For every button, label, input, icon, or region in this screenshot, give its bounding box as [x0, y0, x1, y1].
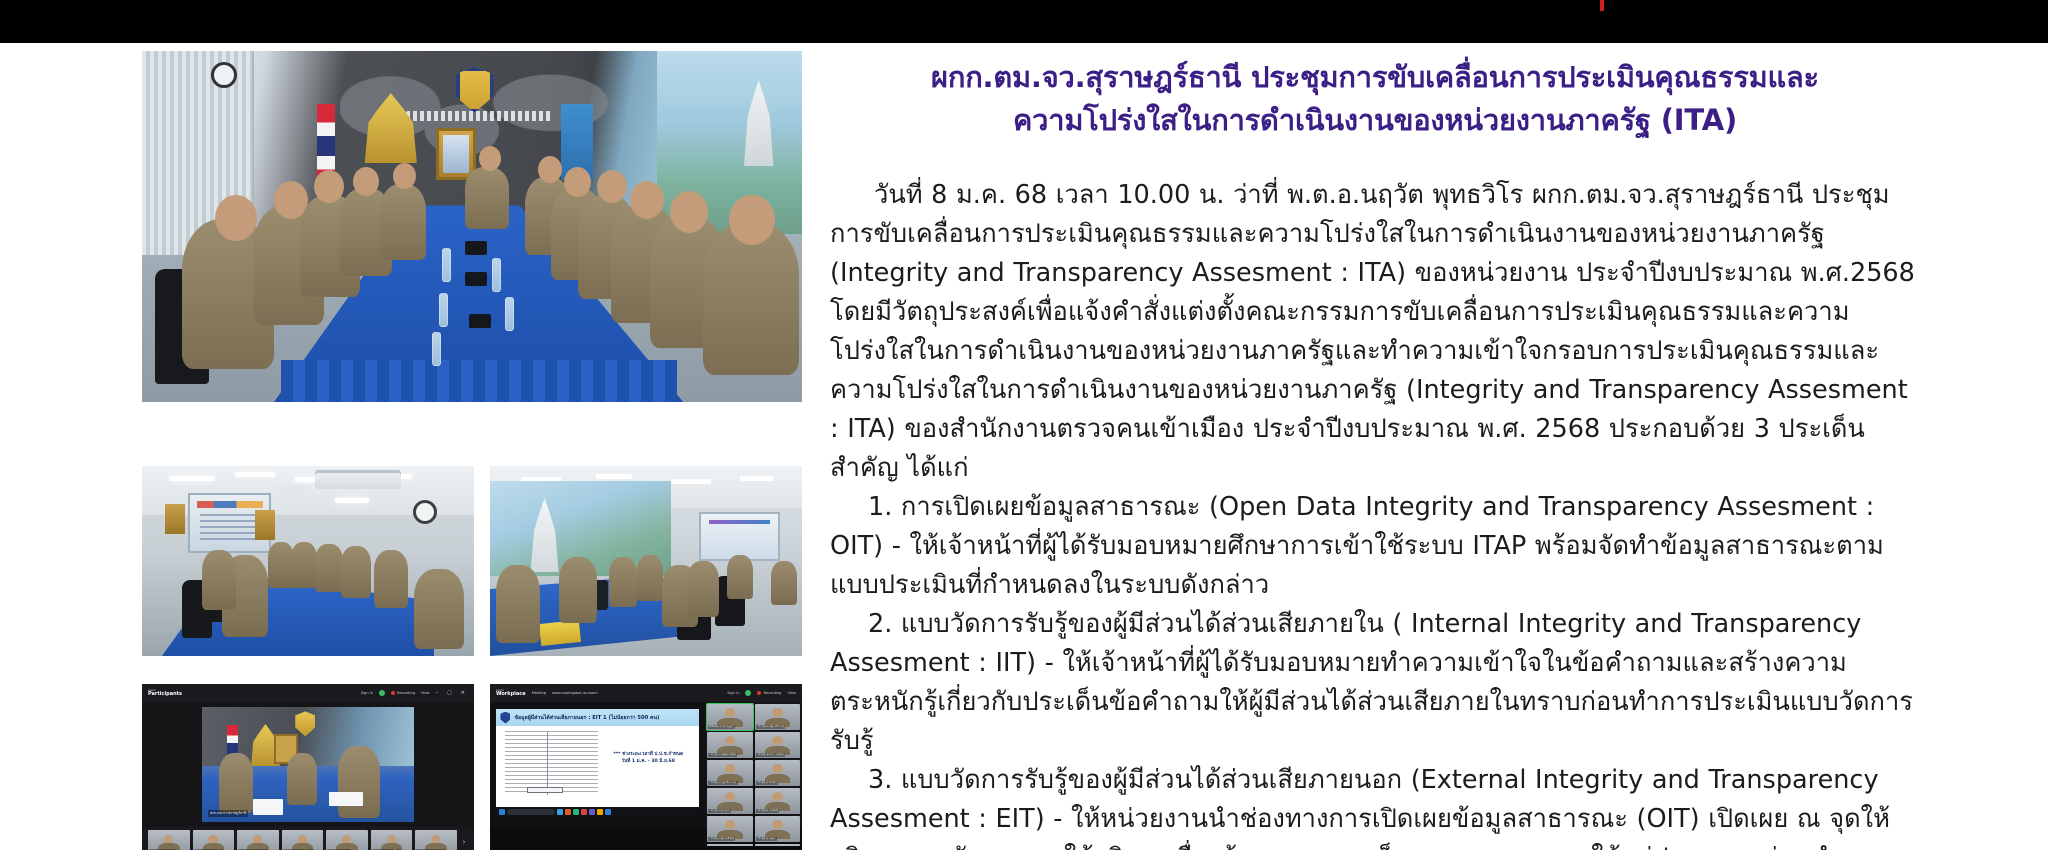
attendee-head	[353, 167, 379, 196]
yellow-folder	[539, 620, 581, 646]
mural-room-photo	[490, 466, 802, 656]
document-paper	[253, 799, 283, 815]
mic-off-icon: 🎤	[757, 837, 761, 841]
spotlight-name-label: ศปก.ตม.จว.สุราษฎร์ธานี	[208, 810, 248, 817]
article-title-line-1: ผกก.ตม.จว.สุราษฎร์ธานี ประชุมการขับเคลื่…	[931, 60, 1819, 94]
zoom-signin-link[interactable]: Sign in	[361, 691, 373, 695]
mic-off-icon: 🎤	[757, 809, 761, 813]
participant-head	[772, 708, 783, 717]
participant-label: 🎤 ด.ต.สมชาย วงศ์ทอง	[756, 753, 786, 757]
water-bottle	[492, 258, 501, 292]
windows-taskbar[interactable]	[496, 807, 698, 817]
roster-tile[interactable]: 🎤 ร.ต.ท.ณัฐพล ศรีสุข	[707, 732, 752, 758]
participant-head	[725, 736, 736, 745]
app-icon[interactable]	[573, 809, 579, 815]
roster-tile[interactable]: 🎤 พ.ต.ท.ชูชาติ ป.ป.ช.	[707, 760, 752, 786]
attendee-head	[314, 170, 344, 203]
article-paragraph: วันที่ 8 ม.ค. 68 เวลา 10.00 น. ว่าที่ พ.…	[830, 176, 1920, 488]
roster-tile[interactable]: ศปก.ตม.จว.สุราษฎร์ฯ	[707, 704, 752, 730]
projection-screen	[699, 512, 780, 561]
slide-text-lines	[200, 514, 260, 541]
roster-tile[interactable]: 🎤 ด.ต.หญิง มณีรัตน์	[707, 816, 752, 842]
wall-frame	[165, 504, 185, 534]
participant-head	[772, 736, 783, 745]
app-icon[interactable]	[597, 809, 603, 815]
wall-clock-icon	[211, 62, 237, 88]
red-marker-icon	[1600, 0, 1604, 11]
participant-head	[725, 764, 736, 773]
participant-label: 🎤 พ.ต.ท.ชูชาติ ป.ป.ช.	[708, 781, 738, 785]
meeting-tab[interactable]: Meeting	[532, 691, 547, 695]
roster-tile[interactable]: 🎤 ด.ต.สมชาย วงศ์ทอง	[755, 732, 800, 758]
app-icon[interactable]	[581, 809, 587, 815]
zoom-title-bar: zoom Participants Sign in Recording View…	[142, 684, 474, 702]
roster-tile[interactable]: 🎤 ร.ต.อ.สุวรรณ	[707, 788, 752, 814]
record-dot-icon	[757, 691, 761, 695]
slide-note-line-2: วันที่ 1 ม.ค. - 30 มิ.ย.68	[610, 759, 687, 766]
recording-indicator[interactable]: Recording	[391, 691, 415, 695]
participant-label: 🎤 ด.ต.หญิง มณีรัตน์	[708, 837, 735, 841]
projector-icon	[275, 485, 309, 498]
water-bottle	[439, 293, 448, 327]
attendee	[202, 550, 236, 610]
participant-label: 🎤 ร.ต.อ.หญิง ศรีวรรณ	[756, 725, 786, 729]
attendee	[687, 561, 719, 617]
participant-label: 🎤 ร.ต.ต.ประสิทธิ์	[756, 809, 780, 813]
zoom-spotlight-video[interactable]: ศปก.ตม.จว.สุราษฎร์ธานี	[202, 707, 414, 822]
zoom-window-name: Workplace	[496, 692, 526, 697]
view-button[interactable]: View	[421, 691, 430, 695]
participant-head	[725, 820, 736, 829]
air-conditioner	[315, 470, 401, 489]
zoom-meeting-screenshot: zoom Participants Sign in Recording View…	[142, 684, 474, 850]
participant-name: ส.ต.ท.อนุชา	[762, 837, 776, 841]
participant-tile[interactable]: 🎤 ร.ต.อ.หญิง ศร...	[148, 830, 190, 850]
attendee	[268, 542, 294, 588]
participant-label: 🎤 ส.ต.ท.อนุชา	[756, 837, 777, 841]
slide-note: *** ช่วงระยะเวลาที่ ป.ป.ช.กำหนด วันที่ 1…	[610, 752, 687, 766]
participant-roster[interactable]: ศปก.ตม.จว.สุราษฎร์ฯ 🎤 ร.ต.อ.หญิง ศรีวรรณ	[705, 702, 802, 827]
wall-sign-text	[406, 111, 551, 121]
water-bottle	[505, 297, 514, 331]
roster-tile[interactable]: 🎤 ร.ต.ต.ประสิทธิ์	[755, 788, 800, 814]
zoom-signin-link[interactable]: Sign in	[727, 691, 739, 695]
network-status-icon	[379, 690, 385, 696]
zoom-screenshare-screenshot: zoom Workplace Meeting www.zoomgobal.us.…	[490, 684, 802, 850]
zoom-participant-filmstrip[interactable]: 🎤 ร.ต.อ.หญิง ศร... 🎤 ด.ต.บรรพต ศิษย์...	[142, 827, 474, 850]
article-paragraph: 1. การเปิดเผยข้อมูลสาธารณะ (Open Data In…	[830, 488, 1920, 605]
slide-header: ข้อมูลผู้มีส่วนได้ส่วนเสียภายนอก : EIT 1…	[496, 709, 698, 726]
attendee-head	[393, 163, 416, 189]
participant-name: ด.ต.สมชาย วงศ์ทอง	[762, 753, 785, 757]
attendee-head	[729, 195, 775, 245]
zoom-app-identity: zoom Workplace	[496, 689, 526, 697]
mic-off-icon: 🎤	[709, 837, 713, 841]
mic-off-icon: 🎤	[757, 725, 761, 729]
article-paragraph: 2. แบบวัดการรับรู้ของผู้มีส่วนได้ส่วนเสี…	[830, 605, 1920, 761]
attendee	[703, 223, 799, 375]
temple-decor	[736, 80, 782, 166]
zoom-window-name: Participants	[148, 692, 182, 697]
presentation-slide: ข้อมูลผู้มีส่วนได้ส่วนเสียภายนอก : EIT 1…	[496, 709, 698, 806]
attendee	[341, 546, 371, 598]
attendee	[291, 542, 317, 588]
view-button[interactable]: View	[787, 691, 796, 695]
slide-button	[527, 787, 563, 793]
attendee	[559, 557, 597, 623]
attendee	[771, 561, 797, 605]
roster-tile[interactable]: 🎤 ร.ต.อ.หญิง ศรีวรรณ	[755, 704, 800, 730]
attendee	[374, 550, 408, 608]
share-url-chip[interactable]: www.zoomgobal.us.zoom	[552, 691, 598, 695]
wall-frame	[255, 510, 275, 540]
participant-head	[725, 792, 736, 801]
record-dot-icon	[391, 691, 395, 695]
ceiling-light	[671, 479, 711, 484]
ceiling-light	[740, 476, 774, 481]
maximize-icon[interactable]: ▢	[447, 690, 455, 696]
participant-name: ร.ต.ท.ณัฐพล ศรีสุข	[714, 753, 736, 757]
start-icon[interactable]	[499, 809, 505, 815]
zoom-stage: ศปก.ตม.จว.สุราษฎร์ธานี	[142, 702, 474, 827]
attendee	[727, 555, 753, 599]
photo-gallery: zoom Participants Sign in Recording View…	[142, 51, 802, 833]
ceiling-light	[335, 498, 369, 503]
app-icon[interactable]	[589, 809, 595, 815]
attendee-head	[215, 195, 257, 241]
participant-head	[772, 764, 783, 773]
app-icon[interactable]	[605, 809, 611, 815]
chairperson-head	[479, 146, 501, 171]
shared-screen-area[interactable]: ข้อมูลผู้มีส่วนได้ส่วนเสียภายนอก : EIT 1…	[490, 702, 705, 827]
participant-label: 🎤 ร.ต.อ.สุวรรณ	[708, 809, 730, 813]
attendee	[637, 555, 663, 601]
participant-tile[interactable]: 🎤 ร.ต.อ.สุวรรณ์โชติ	[371, 830, 413, 850]
attendee	[287, 753, 317, 805]
ceiling-light	[169, 476, 215, 481]
participant-tile[interactable]: 🎤 วิชัย ธานาคม	[326, 830, 368, 850]
top-black-band	[0, 0, 2048, 43]
filmstrip-next-icon[interactable]: ›	[460, 838, 468, 846]
recording-label: Recording	[397, 691, 415, 695]
participant-head	[772, 792, 783, 801]
document-paper	[329, 792, 363, 806]
attendee	[219, 753, 253, 813]
participant-tile[interactable]: 🎤 ส.ต.อ.ธีรภัทร์ มั่น...	[282, 830, 324, 850]
participant-head	[725, 708, 736, 717]
table-skirt	[281, 360, 677, 402]
participant-head	[772, 820, 783, 829]
slide-note-line-1: *** ช่วงระยะเวลาที่ ป.ป.ช.กำหนด	[610, 752, 687, 759]
article-title: ผกก.ตม.จว.สุราษฎร์ธานี ประชุมการขับเคลื่…	[830, 56, 1920, 142]
desk-microphone	[465, 272, 487, 286]
police-crest-icon	[500, 712, 510, 724]
app-icon[interactable]	[565, 809, 571, 815]
participant-label: 🎤 ส.ต.อ.ธีรภัทร์	[756, 781, 778, 785]
projector-room-photo	[142, 466, 474, 656]
wall-clock-icon	[413, 500, 437, 524]
participant-tile[interactable]: 🎤 ด.ต.บรรพต ศิษย์...	[193, 830, 235, 850]
attendee	[414, 569, 464, 649]
recording-label: Recording	[763, 691, 781, 695]
slide-banner	[197, 501, 263, 508]
zoom-toolbar: 🎤 Audio ▭ Video 👤 Participants 🗨 Chat ♡	[490, 846, 802, 850]
participant-tile[interactable]: 🎤 ร.ต.อ.ว่าที่ตรวจ...	[415, 830, 457, 850]
network-status-icon	[745, 690, 751, 696]
taskbar-search-input[interactable]	[507, 809, 554, 815]
participant-name: ศปก.ตม.จว.สุราษฎร์ฯ	[709, 725, 733, 729]
participant-name: ส.ต.อ.ธีรภัทร์	[762, 781, 777, 785]
participant-name: ด.ต.หญิง มณีรัตน์	[714, 837, 734, 841]
zoom-app-identity: zoom Participants	[148, 689, 182, 697]
participant-name: พ.ต.ท.ชูชาติ ป.ป.ช.	[714, 781, 737, 785]
participant-label: 🎤 ร.ต.ท.ณัฐพล ศรีสุข	[708, 753, 737, 757]
water-bottle	[432, 332, 441, 366]
desk-microphone	[469, 314, 491, 328]
participant-name: ร.ต.อ.หญิง ศรีวรรณ	[762, 725, 785, 729]
meeting-room-wide-photo	[142, 51, 802, 402]
minimize-icon[interactable]: –	[436, 690, 442, 696]
temple-decor	[523, 498, 567, 572]
mic-off-icon: 🎤	[709, 781, 713, 785]
slide-list-text	[505, 731, 598, 795]
roster-tile[interactable]: 🎤 ส.ต.ท.อนุชา	[755, 816, 800, 842]
roster-tile[interactable]: 🎤 ส.ต.อ.ธีรภัทร์	[755, 760, 800, 786]
article-title-line-2: ความโปร่งใสในการดำเนินงานของหน่วยงานภาคร…	[1013, 103, 1737, 137]
article-body: วันที่ 8 ม.ค. 68 เวลา 10.00 น. ว่าที่ พ.…	[830, 176, 1920, 850]
participant-label: ศปก.ตม.จว.สุราษฎร์ฯ	[708, 725, 734, 729]
app-icon[interactable]	[557, 809, 563, 815]
slide-title: ข้อมูลผู้มีส่วนได้ส่วนเสียภายนอก : EIT 1…	[514, 714, 659, 722]
zoom-title-bar: zoom Workplace Meeting www.zoomgobal.us.…	[490, 684, 802, 702]
ceiling-light	[235, 472, 275, 477]
attendee	[609, 557, 637, 607]
attendee	[380, 184, 426, 260]
mic-off-icon: 🎤	[709, 809, 713, 813]
water-bottle	[442, 248, 451, 282]
poster-page: zoom Participants Sign in Recording View…	[0, 0, 2048, 850]
speaker	[338, 746, 380, 818]
mic-off-icon: 🎤	[757, 781, 761, 785]
slide-column-divider	[547, 731, 548, 795]
mic-off-icon: 🎤	[709, 753, 713, 757]
attendee	[496, 565, 540, 643]
article-panel: ผกก.ตม.จว.สุราษฎร์ธานี ประชุมการขับเคลื่…	[830, 56, 1920, 816]
attendee	[315, 544, 343, 592]
close-icon[interactable]: ✕	[461, 690, 468, 696]
recording-indicator[interactable]: Recording	[757, 691, 781, 695]
participant-name: ร.ต.อ.สุวรรณ	[714, 809, 729, 813]
ceiling-light	[596, 474, 632, 479]
slide-banner	[709, 520, 771, 524]
chairperson	[465, 167, 509, 229]
desk-microphone	[465, 241, 487, 255]
participant-tile[interactable]: 🎤 พ.ต.ต.ผู้ช่วยงาน...	[237, 830, 279, 850]
mic-off-icon: 🎤	[757, 753, 761, 757]
participant-name: ร.ต.ต.ประสิทธิ์	[762, 809, 779, 813]
article-paragraph: 3. แบบวัดการรับรู้ของผู้มีส่วนได้ส่วนเสี…	[830, 761, 1920, 850]
